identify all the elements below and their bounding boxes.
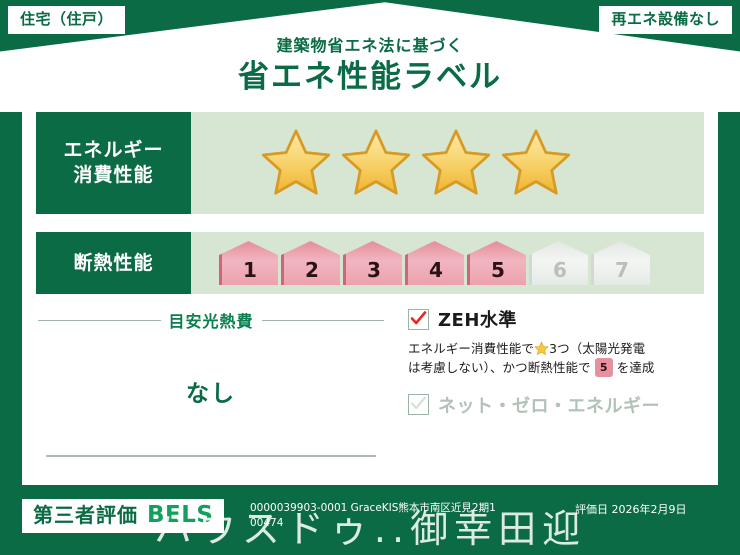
insulation-level-value: 4 (429, 260, 443, 285)
tab-renewable-equipment: 再エネ設備なし (599, 6, 732, 34)
insulation-level-value: 6 (553, 260, 567, 285)
insulation-level-1: 1 (219, 241, 278, 285)
energy-performance-row: エネルギー 消費性能 (36, 112, 704, 214)
title-subtitle: 建築物省エネ法に基づく (0, 38, 740, 55)
insulation-level-5: 5 (467, 241, 526, 285)
certificate-id: 0000039903-0001 GraceKIS熊本市南区近見2期1 00474 (250, 501, 496, 531)
lower-section: 目安光熱費 なし ZEH水準 エネルギー消費性能で3つ（太陽光発電は考慮 (22, 300, 718, 485)
zeh-desc-part2: 3つ（太陽光発電 (549, 341, 645, 356)
insulation-level-scale: 1234567 (191, 241, 650, 285)
zeh-checkbox[interactable] (408, 309, 429, 330)
zeh-description: エネルギー消費性能で3つ（太陽光発電は考慮しない）、かつ断熱性能で 5 を達成 (408, 339, 708, 378)
insulation-level-6: 6 (529, 241, 588, 285)
insulation-level-7: 7 (591, 241, 650, 285)
zeh-desc-part3: は考慮しない）、かつ断熱性能で (408, 360, 591, 375)
insulation-level-4: 4 (405, 241, 464, 285)
energy-performance-label: 住宅（住戸） 再エネ設備なし 建築物省エネ法に基づく 省エネ性能ラベル エネルギ… (0, 0, 740, 555)
star-icon (339, 126, 413, 200)
bels-badge-jp: 第三者評価 (33, 505, 138, 525)
star-icon (419, 126, 493, 200)
evaluation-date-value: 2026年2月9日 (612, 503, 687, 516)
insulation-performance-row: 断熱性能 1234567 (36, 232, 704, 294)
utility-cost-header: 目安光熱費 (22, 300, 400, 332)
cost-divider (46, 455, 376, 457)
net-zero-energy-row[interactable]: ネット・ゼロ・エネルギー (408, 392, 708, 418)
certificate-id-line1: 0000039903-0001 GraceKIS熊本市南区近見2期1 (250, 501, 496, 516)
star-icon (499, 126, 573, 200)
insulation-performance-label-box: 断熱性能 (36, 232, 191, 294)
rule-right (262, 320, 385, 321)
zeh-standard-row[interactable]: ZEH水準 (408, 306, 708, 332)
zeh-pane: ZEH水準 エネルギー消費性能で3つ（太陽光発電は考慮しない）、かつ断熱性能で … (400, 300, 718, 485)
evaluation-date-label: 評価日 (575, 503, 608, 516)
star-rating (191, 126, 573, 200)
insulation-level-value: 2 (305, 260, 319, 285)
zeh-standard-label: ZEH水準 (438, 306, 517, 332)
insulation-level-2: 2 (281, 241, 340, 285)
evaluation-date: 評価日 2026年2月9日 (575, 501, 687, 517)
zeh-desc-part1: エネルギー消費性能で (408, 341, 534, 356)
title-block: 建築物省エネ法に基づく 省エネ性能ラベル (0, 38, 740, 93)
insulation-label: 断熱性能 (73, 251, 153, 276)
energy-label-line1: エネルギー (63, 138, 163, 163)
utility-cost-value: なし (22, 374, 400, 408)
utility-cost-title: 目安光熱費 (169, 308, 254, 332)
check-icon (410, 310, 427, 327)
certificate-id-line2: 00474 (250, 516, 496, 531)
insulation-level-value: 7 (615, 260, 629, 285)
net-zero-checkbox[interactable] (408, 394, 429, 415)
energy-performance-label-box: エネルギー 消費性能 (36, 112, 191, 214)
energy-performance-value (191, 112, 704, 214)
utility-cost-pane: 目安光熱費 なし (22, 300, 400, 485)
page-title: 省エネ性能ラベル (0, 61, 740, 94)
bels-badge: 第三者評価 BELS (22, 499, 224, 533)
insulation-level-value: 5 (491, 260, 505, 285)
insulation-performance-value: 1234567 (191, 232, 704, 294)
bels-badge-en: BELS (147, 504, 213, 527)
check-icon-muted (410, 395, 427, 412)
footer-bar: 第三者評価 BELS 0000039903-0001 GraceKIS熊本市南区… (0, 485, 740, 555)
star-icon (259, 126, 333, 200)
insulation-level-value: 1 (243, 260, 257, 285)
star-icon-inline (534, 341, 549, 356)
net-zero-energy-label: ネット・ゼロ・エネルギー (438, 392, 660, 418)
energy-label-line2: 消費性能 (73, 163, 153, 188)
zeh-desc-level-chip: 5 (595, 358, 613, 377)
zeh-desc-part4: を達成 (617, 360, 655, 375)
insulation-level-3: 3 (343, 241, 402, 285)
tab-building-type: 住宅（住戸） (8, 6, 125, 34)
rule-left (38, 320, 161, 321)
insulation-level-value: 3 (367, 260, 381, 285)
label-card: エネルギー 消費性能 断熱性能 1234567 目安光熱費 (22, 104, 718, 485)
